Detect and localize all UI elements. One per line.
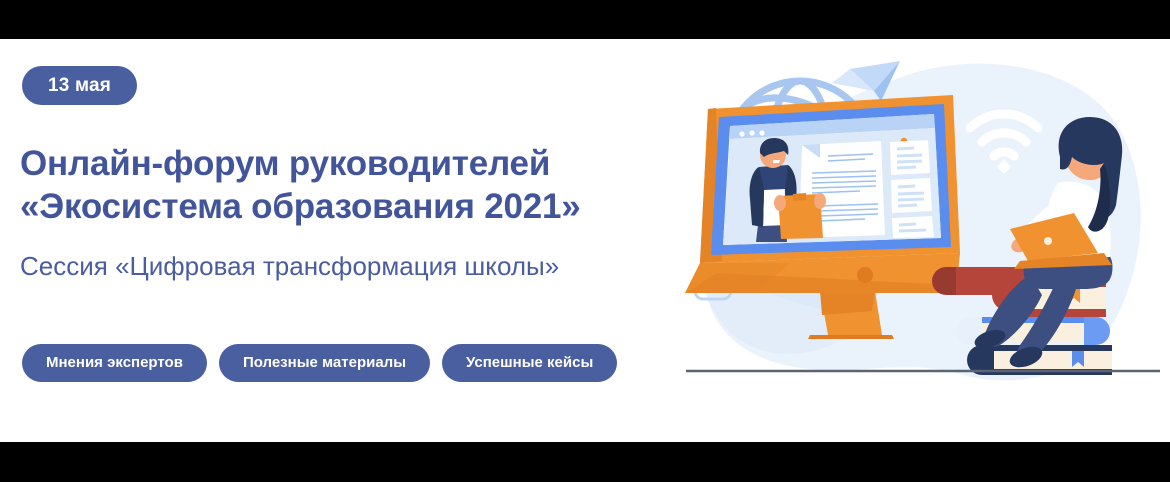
tag-pill-cases[interactable]: Успешные кейсы [442,344,617,382]
presenter-hand-right [814,193,826,209]
browser-dot-2 [749,130,754,135]
monitor-foot [808,335,894,339]
monitor-stand-shade [820,291,875,315]
tag-pill-materials[interactable]: Полезные материалы [219,344,430,382]
page-subtitle: Сессия «Цифровая трансформация школы» [20,250,680,282]
browser-dot-1 [739,131,744,136]
page-title: Онлайн-форум руководителей «Экосистема о… [20,142,660,228]
tag-pill-opinions[interactable]: Мнения экспертов [22,344,207,382]
letterbox-bottom [0,442,1170,482]
book-navy-top [994,345,1112,351]
monitor-logo-dot [857,267,873,283]
presenter-smile [773,160,780,163]
laptop-logo [1044,237,1052,245]
clipboard-clip [793,193,806,201]
headline-line-2: «Экосистема образования 2021» [20,185,660,228]
online-forum-illustration [660,39,1170,442]
banner-stage: 13 мая Онлайн-форум руководителей «Экоси… [0,39,1170,442]
letterbox-top [0,0,1170,39]
banner-root: 13 мая Онлайн-форум руководителей «Экоси… [0,0,1170,482]
presenter-hand-left [774,195,786,211]
tag-row: Мнения экспертов Полезные материалы Успе… [22,344,617,382]
browser-dot-3 [759,130,764,135]
headline-line-1: Онлайн-форум руководителей [20,142,660,185]
date-badge: 13 мая [22,66,137,105]
sidebar-cards [890,140,934,238]
